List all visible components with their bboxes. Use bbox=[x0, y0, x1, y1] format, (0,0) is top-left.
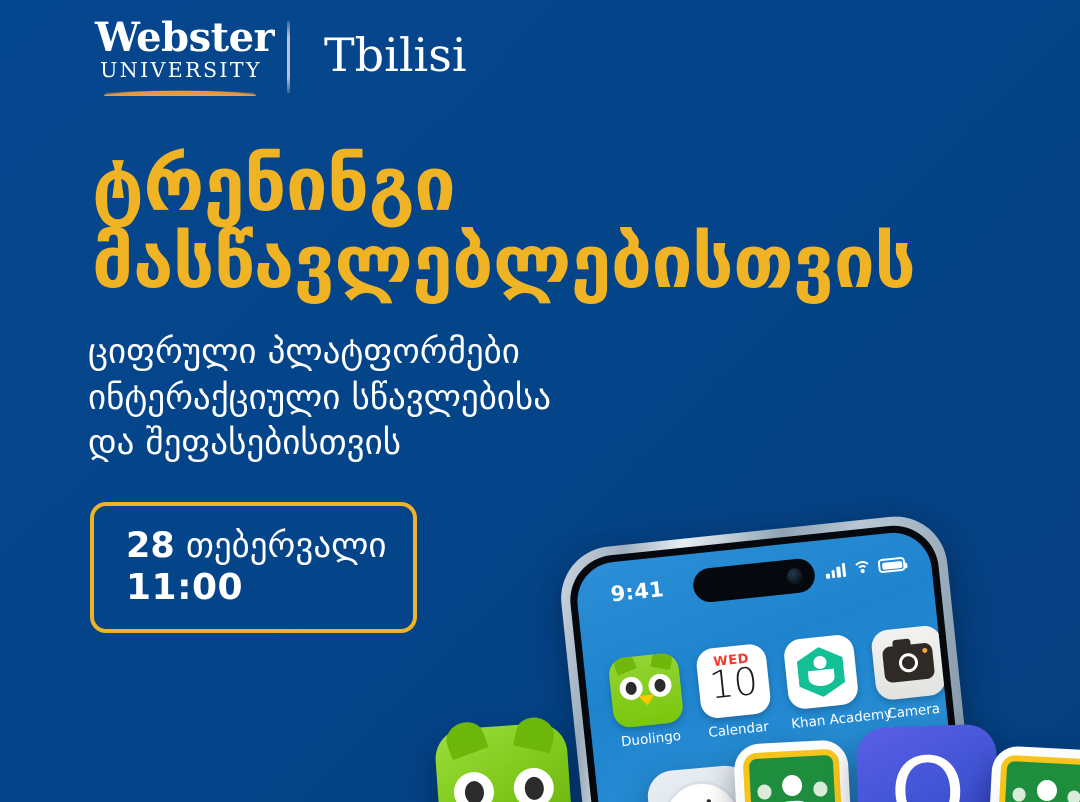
logo-divider bbox=[287, 21, 290, 93]
duolingo-owl-icon bbox=[607, 652, 684, 729]
app-khan-academy[interactable]: Khan Academy bbox=[783, 633, 862, 732]
front-camera-icon bbox=[786, 567, 804, 585]
calendar-icon: WED 10 bbox=[695, 643, 772, 720]
app-label: Camera bbox=[878, 701, 949, 723]
owl-beak bbox=[639, 694, 656, 706]
floating-google-classroom-icon-2 bbox=[987, 745, 1080, 802]
app-label: Khan Academy bbox=[791, 710, 862, 732]
floating-quizlet-icon: Q bbox=[856, 724, 1001, 802]
webster-university-logo: Webster UNIVERSITY bbox=[95, 18, 265, 97]
camera-flash bbox=[922, 648, 927, 653]
khan-head bbox=[813, 655, 827, 669]
classroom-inner-board bbox=[742, 749, 843, 802]
camera-lens bbox=[898, 652, 919, 673]
classroom-person-center-head bbox=[1036, 780, 1057, 802]
phone-mockup-scene: 9:41 bbox=[528, 530, 1080, 802]
app-duolingo[interactable]: Duolingo bbox=[607, 652, 686, 751]
owl-eye-right bbox=[512, 767, 555, 802]
owl-tuft-left bbox=[611, 652, 636, 676]
classroom-person-left-head bbox=[1012, 787, 1027, 802]
wifi-icon bbox=[852, 559, 872, 576]
app-camera[interactable]: Camera bbox=[870, 624, 949, 723]
page-subtitle: ციფრული პლატფორმები ინტერაქციული სწავლებ… bbox=[88, 330, 708, 467]
event-time: 11:00 bbox=[126, 567, 413, 608]
webster-university-subtext: UNIVERSITY bbox=[95, 60, 265, 81]
classroom-person-right-head bbox=[813, 782, 828, 798]
app-label: Duolingo bbox=[616, 728, 687, 750]
poster-canvas: Webster UNIVERSITY Tbilisi ტრენინგი მასწ… bbox=[0, 0, 1080, 802]
khan-academy-leaf-icon bbox=[783, 633, 860, 710]
quizlet-q-glyph: Q bbox=[888, 744, 967, 802]
khan-leaf bbox=[808, 669, 836, 688]
owl-eye-left bbox=[453, 771, 496, 802]
classroom-person-right-head bbox=[1067, 790, 1080, 802]
campus-name: Tbilisi bbox=[324, 32, 467, 78]
brand-lockup: Webster UNIVERSITY Tbilisi bbox=[95, 16, 467, 98]
owl-tuft-left bbox=[442, 717, 489, 760]
headline-line-1: ტრენინგი bbox=[92, 146, 992, 224]
event-date-badge: 28 თებერვალი 11:00 bbox=[90, 502, 417, 633]
webster-wordmark: Webster bbox=[95, 18, 265, 58]
classroom-person-left-head bbox=[757, 785, 772, 801]
battery-icon bbox=[878, 557, 906, 574]
subtitle-line-2: ინტერაქციული სწავლებისა bbox=[88, 376, 708, 422]
camera-body bbox=[882, 642, 935, 683]
event-day-number: 28 bbox=[126, 526, 175, 566]
classroom-inner-board bbox=[996, 755, 1080, 802]
owl-tuft-right bbox=[650, 652, 673, 670]
clock-face bbox=[660, 778, 745, 802]
calendar-day-number: 10 bbox=[697, 660, 771, 709]
webster-swoosh-icon bbox=[104, 85, 256, 96]
signal-bars-icon bbox=[825, 562, 846, 579]
floating-google-classroom-icon bbox=[733, 739, 853, 802]
khan-hexagon bbox=[796, 645, 847, 700]
floating-duolingo-owl-icon bbox=[434, 722, 575, 802]
headline-line-2: მასწავლებლებისთვის bbox=[92, 224, 992, 301]
owl-tuft-right bbox=[513, 714, 557, 753]
dynamic-island bbox=[692, 557, 817, 604]
event-date: 28 თებერვალი bbox=[126, 526, 413, 567]
app-label: Calendar bbox=[703, 719, 774, 741]
subtitle-line-1: ციფრული პლატფორმები bbox=[88, 330, 708, 376]
page-title: ტრენინგი მასწავლებლებისთვის bbox=[92, 146, 992, 302]
camera-icon bbox=[870, 624, 947, 701]
classroom-person-center-head bbox=[782, 774, 803, 796]
status-bar-time: 9:41 bbox=[609, 577, 665, 606]
status-bar-indicators bbox=[825, 556, 906, 579]
app-calendar[interactable]: WED 10 Calendar bbox=[695, 643, 774, 742]
event-month-name: თებერვალი bbox=[186, 526, 387, 566]
subtitle-line-3: და შეფასებისთვის bbox=[88, 421, 708, 467]
